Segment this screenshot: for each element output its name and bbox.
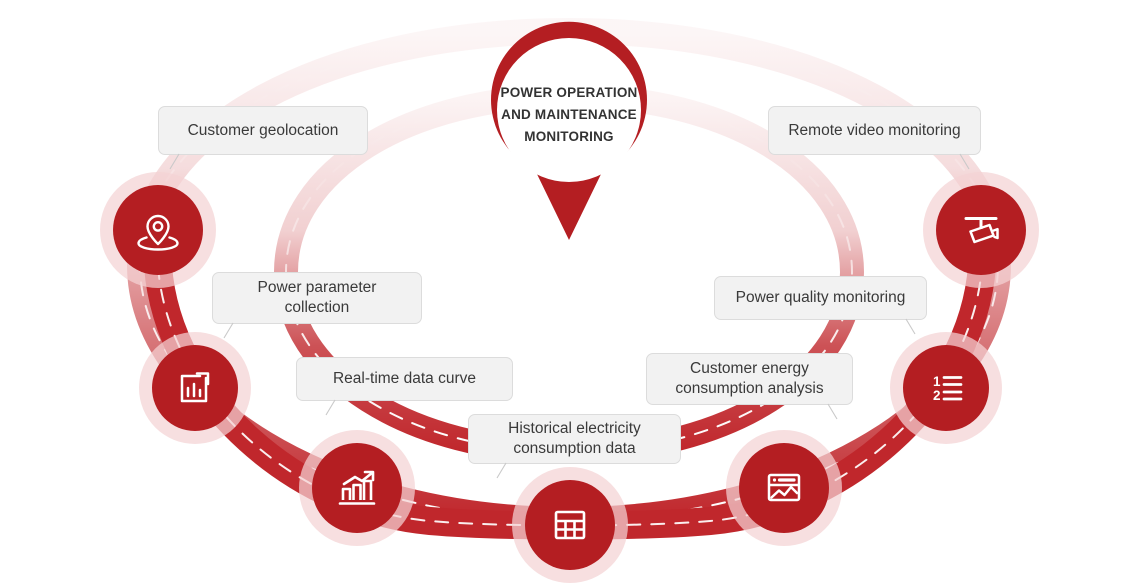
label-realtime-data-curve[interactable]: Real-time data curve	[296, 357, 513, 401]
label-text: Remote video monitoring	[788, 121, 960, 141]
label-customer-geolocation[interactable]: Customer geolocation	[158, 106, 368, 155]
label-text: Power parameter collection	[258, 278, 377, 318]
location-pin-icon	[113, 185, 203, 275]
center-title-line-3: MONITORING	[479, 126, 659, 148]
label-power-parameter-collection[interactable]: Power parameter collection	[212, 272, 422, 324]
window-chart-icon	[739, 443, 829, 533]
label-historical-consumption-data[interactable]: Historical electricity consumption data	[468, 414, 681, 464]
label-line-1: Historical electricity	[508, 419, 641, 439]
label-line-2: consumption data	[508, 439, 641, 459]
label-text: Power quality monitoring	[736, 288, 906, 308]
label-text: Customer energy consumption analysis	[675, 359, 823, 399]
numbered-list-icon: 1 2	[903, 345, 989, 431]
label-text: Historical electricity consumption data	[508, 419, 641, 459]
label-line-2: collection	[258, 298, 377, 318]
label-tail	[827, 404, 841, 420]
label-power-quality-monitoring[interactable]: Power quality monitoring	[714, 276, 927, 320]
bar-chart-arrow-icon	[152, 345, 238, 431]
label-text: Real-time data curve	[333, 369, 476, 389]
label-text: Customer geolocation	[188, 121, 339, 141]
center-title-line-2: AND MAINTENANCE	[479, 104, 659, 126]
svg-text:1: 1	[933, 374, 941, 389]
cctv-camera-icon	[936, 185, 1026, 275]
label-line-1: Customer energy	[675, 359, 823, 379]
growth-chart-icon	[312, 443, 402, 533]
label-customer-energy-analysis[interactable]: Customer energy consumption analysis	[646, 353, 853, 405]
label-line-1: Power parameter	[258, 278, 377, 298]
label-remote-video-monitoring[interactable]: Remote video monitoring	[768, 106, 981, 155]
label-tail	[905, 319, 919, 335]
label-tail	[493, 463, 507, 479]
label-tail	[322, 400, 336, 416]
center-title-line-1: POWER OPERATION	[479, 82, 659, 104]
label-tail	[220, 323, 234, 339]
label-line-2: consumption analysis	[675, 379, 823, 399]
svg-text:2: 2	[933, 388, 941, 403]
table-grid-icon	[525, 480, 615, 570]
label-tail	[959, 154, 973, 170]
label-tail	[166, 154, 180, 170]
diagram-canvas: 1 2	[0, 0, 1139, 587]
center-title: POWER OPERATION AND MAINTENANCE MONITORI…	[479, 82, 659, 148]
